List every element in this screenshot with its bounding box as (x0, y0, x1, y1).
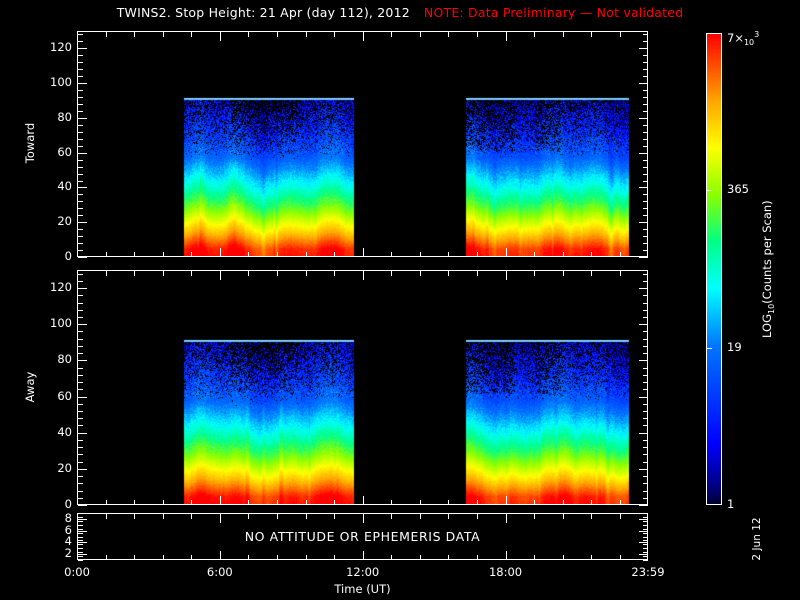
axis-tick (591, 555, 592, 560)
axis-tick (363, 514, 364, 523)
axis-tick (639, 469, 648, 470)
axis-tick (643, 368, 648, 369)
y-tick-label: 20 (57, 461, 72, 475)
y-tick-label: 40 (57, 425, 72, 439)
axis-tick (191, 252, 192, 257)
axis-tick (163, 271, 164, 276)
axis-tick (477, 32, 478, 37)
axis-tick (534, 252, 535, 257)
axis-tick (639, 257, 648, 258)
colorbar-tick-label: 1 (727, 497, 734, 511)
axis-tick (191, 271, 192, 276)
axis-tick (477, 271, 478, 276)
y-tick-label: 6 (65, 523, 72, 537)
axis-tick (639, 360, 648, 361)
axis-tick (78, 346, 83, 347)
axis-tick (647, 271, 648, 280)
axis-tick (506, 496, 507, 505)
axis-tick (643, 201, 648, 202)
y-tick-label: 100 (50, 75, 72, 89)
axis-tick (363, 496, 364, 505)
axis-tick (106, 514, 107, 519)
x-tick-label: 0:00 (37, 565, 117, 579)
colorbar-tick-label: 365 (727, 182, 749, 196)
axis-tick (106, 555, 107, 560)
axis-tick (391, 555, 392, 560)
axis-tick (78, 69, 83, 70)
axis-tick (78, 174, 83, 175)
axis-tick (563, 271, 564, 276)
axis-tick (534, 555, 535, 560)
axis-tick (639, 83, 648, 84)
colorbar (706, 33, 722, 505)
axis-tick (78, 146, 83, 147)
axis-tick (391, 32, 392, 37)
axis-tick (563, 500, 564, 505)
axis-tick (78, 201, 83, 202)
y-tick-label: 20 (57, 214, 72, 228)
colorbar-gradient (707, 34, 722, 505)
axis-tick (643, 104, 648, 105)
axis-tick (248, 514, 249, 519)
x-tick-label: 18:00 (466, 565, 546, 579)
no-data-message: NO ATTITUDE OR EPHEMERIS DATA (77, 529, 648, 544)
axis-tick (78, 404, 83, 405)
y-tick-label: 80 (57, 352, 72, 366)
axis-tick (643, 281, 648, 282)
axis-tick (77, 551, 78, 560)
axis-tick (248, 32, 249, 37)
axis-tick (78, 360, 87, 361)
axis-tick (78, 462, 83, 463)
axis-tick (78, 505, 87, 506)
axis-tick (78, 55, 83, 56)
axis-tick (78, 62, 83, 63)
axis-tick (78, 41, 83, 42)
axis-tick (191, 500, 192, 505)
axis-tick (78, 411, 83, 412)
axis-tick (643, 76, 648, 77)
axis-tick (78, 339, 83, 340)
axis-tick (643, 215, 648, 216)
axis-tick (643, 346, 648, 347)
axis-tick (220, 32, 221, 41)
axis-tick (563, 252, 564, 257)
axis-tick (639, 187, 648, 188)
axis-tick (643, 411, 648, 412)
axis-tick (78, 498, 83, 499)
axis-tick (477, 514, 478, 519)
axis-tick (191, 514, 192, 519)
axis-tick (78, 118, 87, 119)
axis-tick (78, 447, 83, 448)
axis-tick (647, 32, 648, 41)
axis-tick (306, 252, 307, 257)
axis-tick (78, 34, 83, 35)
y-tick-label: 60 (57, 145, 72, 159)
axis-tick (643, 167, 648, 168)
axis-tick (78, 418, 83, 419)
axis-tick (78, 90, 83, 91)
axis-tick (643, 146, 648, 147)
axis-tick (420, 32, 421, 37)
y-tick-label: 80 (57, 110, 72, 124)
axis-tick (78, 111, 83, 112)
axis-tick (78, 469, 87, 470)
axis-tick (78, 194, 83, 195)
axis-tick (591, 500, 592, 505)
axis-tick (643, 194, 648, 195)
panel-toward-y-axis-title: Toward (23, 113, 37, 173)
axis-tick (506, 248, 507, 257)
axis-tick (643, 483, 648, 484)
axis-tick (78, 229, 83, 230)
axis-tick (78, 303, 83, 304)
axis-tick (78, 433, 87, 434)
axis-tick (163, 500, 164, 505)
axis-tick (643, 41, 648, 42)
axis-tick (448, 500, 449, 505)
colorbar-tick-label: 7×103 (727, 30, 759, 47)
axis-tick (78, 236, 83, 237)
axis-tick (78, 83, 87, 84)
axis-tick (643, 55, 648, 56)
axis-tick (506, 551, 507, 560)
axis-tick (78, 243, 83, 244)
axis-tick (78, 181, 83, 182)
axis-tick (78, 281, 83, 282)
axis-tick (643, 425, 648, 426)
axis-tick (78, 257, 87, 258)
axis-tick (448, 252, 449, 257)
axis-tick (591, 252, 592, 257)
axis-tick (639, 153, 648, 154)
axis-tick (643, 525, 648, 526)
axis-tick (563, 514, 564, 519)
axis-tick (77, 248, 78, 257)
axis-tick (78, 397, 87, 398)
axis-tick (643, 353, 648, 354)
axis-tick (643, 90, 648, 91)
axis-tick (106, 252, 107, 257)
axis-tick (643, 339, 648, 340)
axis-tick (643, 229, 648, 230)
axis-tick (643, 125, 648, 126)
y-tick-label: 8 (65, 511, 72, 525)
axis-tick (643, 491, 648, 492)
axis-tick (506, 32, 507, 41)
axis-tick (534, 514, 535, 519)
title-warning-note: NOTE: Data Preliminary — Not validated (424, 5, 683, 20)
axis-tick (620, 555, 621, 560)
axis-tick (78, 317, 83, 318)
axis-tick (643, 548, 648, 549)
axis-tick (643, 462, 648, 463)
axis-tick (620, 514, 621, 519)
axis-tick (78, 187, 87, 188)
axis-tick (334, 555, 335, 560)
axis-tick (78, 519, 87, 520)
axis-tick (220, 496, 221, 505)
axis-tick (134, 555, 135, 560)
axis-tick (643, 243, 648, 244)
x-tick-label: 6:00 (180, 565, 260, 579)
axis-tick (448, 271, 449, 276)
axis-tick (134, 32, 135, 37)
axis-tick (334, 32, 335, 37)
axis-tick (647, 514, 648, 523)
axis-tick (78, 513, 83, 514)
axis-tick (620, 32, 621, 37)
axis-tick (220, 248, 221, 257)
axis-tick (78, 375, 83, 376)
axis-tick (643, 303, 648, 304)
x-tick-label: 23:59 (608, 565, 688, 579)
axis-tick (77, 496, 78, 505)
axis-tick (591, 32, 592, 37)
spectrogram-away-canvas (78, 271, 648, 505)
axis-tick (334, 500, 335, 505)
axis-tick (78, 167, 83, 168)
axis-tick (106, 271, 107, 276)
axis-tick (77, 514, 78, 523)
axis-tick (363, 271, 364, 280)
y-tick-label: 0 (65, 497, 72, 511)
axis-tick (78, 76, 83, 77)
axis-tick (534, 32, 535, 37)
axis-tick (643, 476, 648, 477)
axis-tick (643, 97, 648, 98)
axis-tick (78, 48, 87, 49)
axis-tick (563, 555, 564, 560)
axis-tick (78, 97, 83, 98)
axis-tick (534, 271, 535, 276)
axis-tick (334, 271, 335, 276)
axis-tick (643, 454, 648, 455)
axis-tick (78, 368, 83, 369)
axis-tick (78, 104, 83, 105)
colorbar-tick-label: 19 (727, 340, 742, 354)
axis-tick (78, 153, 87, 154)
axis-tick (248, 555, 249, 560)
axis-tick (643, 208, 648, 209)
axis-tick (277, 514, 278, 519)
axis-tick (420, 271, 421, 276)
axis-tick (643, 160, 648, 161)
axis-tick (78, 139, 83, 140)
title-main-text: TWINS2. Stop Height: 21 Apr (day 112), 2… (117, 5, 410, 20)
axis-tick (277, 32, 278, 37)
axis-tick (639, 505, 648, 506)
axis-tick (78, 476, 83, 477)
panel-away-y-axis-title: Away (23, 357, 37, 417)
axis-tick (78, 554, 87, 555)
axis-tick (391, 271, 392, 276)
axis-tick (639, 324, 648, 325)
axis-tick (591, 271, 592, 276)
axis-tick (643, 382, 648, 383)
axis-tick (78, 483, 83, 484)
axis-tick (78, 208, 83, 209)
axis-tick (563, 32, 564, 37)
axis-tick (363, 551, 364, 560)
axis-tick (643, 69, 648, 70)
axis-tick (191, 32, 192, 37)
axis-tick (620, 271, 621, 276)
axis-tick (639, 433, 648, 434)
axis-tick (163, 514, 164, 519)
axis-tick (643, 174, 648, 175)
axis-tick (506, 271, 507, 280)
axis-tick (163, 32, 164, 37)
axis-tick (643, 132, 648, 133)
axis-tick (643, 317, 648, 318)
axis-tick (78, 425, 83, 426)
axis-tick (647, 496, 648, 505)
axis-tick (643, 375, 648, 376)
axis-tick (248, 271, 249, 276)
axis-tick (78, 324, 87, 325)
axis-tick (220, 551, 221, 560)
axis-tick (248, 252, 249, 257)
axis-tick (78, 331, 83, 332)
axis-tick (391, 500, 392, 505)
axis-tick (277, 500, 278, 505)
panel-toward (77, 31, 648, 257)
axis-tick (277, 271, 278, 276)
y-tick-label: 2 (65, 546, 72, 560)
axis-tick (506, 514, 507, 523)
axis-tick (477, 252, 478, 257)
y-tick-label: 60 (57, 389, 72, 403)
axis-tick (78, 125, 83, 126)
axis-tick (78, 274, 83, 275)
axis-tick (134, 252, 135, 257)
axis-tick (620, 500, 621, 505)
axis-tick (477, 500, 478, 505)
axis-tick (78, 521, 83, 522)
axis-tick (106, 32, 107, 37)
axis-tick (643, 404, 648, 405)
axis-tick (106, 500, 107, 505)
axis-tick (643, 111, 648, 112)
x-tick-label: 12:00 (323, 565, 403, 579)
x-axis-title: Time (UT) (77, 582, 648, 596)
axis-tick (220, 514, 221, 523)
plot-root: TWINS2. Stop Height: 21 Apr (day 112), 2… (0, 0, 800, 600)
axis-tick (420, 555, 421, 560)
axis-tick (643, 544, 648, 545)
axis-tick (78, 389, 83, 390)
axis-tick (643, 440, 648, 441)
axis-tick (643, 331, 648, 332)
axis-tick (77, 32, 78, 41)
axis-tick (163, 252, 164, 257)
axis-tick (448, 32, 449, 37)
y-tick-label: 100 (50, 316, 72, 330)
axis-tick (306, 271, 307, 276)
axis-tick (78, 560, 83, 561)
axis-tick (643, 560, 648, 561)
axis-tick (639, 118, 648, 119)
axis-tick (643, 181, 648, 182)
axis-tick (134, 271, 135, 276)
axis-tick (78, 250, 83, 251)
axis-tick (647, 248, 648, 257)
axis-tick (306, 514, 307, 519)
axis-tick (448, 514, 449, 519)
axis-tick (334, 252, 335, 257)
axis-tick (163, 555, 164, 560)
axis-tick (639, 397, 648, 398)
y-tick-label: 0 (65, 249, 72, 263)
axis-tick (363, 32, 364, 41)
axis-tick (534, 500, 535, 505)
axis-tick (248, 500, 249, 505)
axis-tick (647, 551, 648, 560)
y-tick-label: 120 (50, 280, 72, 294)
axis-tick (306, 555, 307, 560)
axis-tick (391, 252, 392, 257)
axis-tick (334, 514, 335, 519)
axis-tick (643, 389, 648, 390)
axis-tick (78, 544, 83, 545)
axis-tick (643, 236, 648, 237)
axis-tick (643, 139, 648, 140)
axis-tick (78, 160, 83, 161)
axis-tick (639, 288, 648, 289)
axis-tick (639, 222, 648, 223)
axis-tick (448, 555, 449, 560)
axis-tick (306, 500, 307, 505)
axis-tick (363, 248, 364, 257)
axis-tick (78, 552, 83, 553)
axis-tick (134, 500, 135, 505)
colorbar-tick (707, 190, 712, 191)
axis-tick (78, 525, 83, 526)
axis-tick (78, 548, 83, 549)
panel-away (77, 270, 648, 505)
axis-tick (277, 252, 278, 257)
axis-tick (643, 62, 648, 63)
colorbar-axis-title: LOG10(Counts per Scan) (760, 33, 776, 505)
axis-tick (220, 271, 221, 280)
axis-tick (78, 222, 87, 223)
date-stamp: 2 Jun 12 (751, 509, 763, 569)
axis-tick (643, 447, 648, 448)
axis-tick (78, 353, 83, 354)
axis-tick (420, 252, 421, 257)
axis-tick (420, 514, 421, 519)
axis-tick (77, 271, 78, 280)
axis-tick (78, 440, 83, 441)
axis-tick (643, 295, 648, 296)
axis-tick (620, 252, 621, 257)
axis-tick (78, 310, 83, 311)
axis-tick (643, 310, 648, 311)
spectrogram-toward-canvas (78, 32, 648, 257)
axis-tick (277, 555, 278, 560)
axis-tick (78, 132, 83, 133)
axis-tick (643, 418, 648, 419)
axis-tick (420, 500, 421, 505)
axis-tick (191, 555, 192, 560)
axis-tick (306, 32, 307, 37)
y-tick-label: 40 (57, 179, 72, 193)
axis-tick (639, 48, 648, 49)
axis-tick (391, 514, 392, 519)
plot-title: TWINS2. Stop Height: 21 Apr (day 112), 2… (0, 5, 800, 20)
